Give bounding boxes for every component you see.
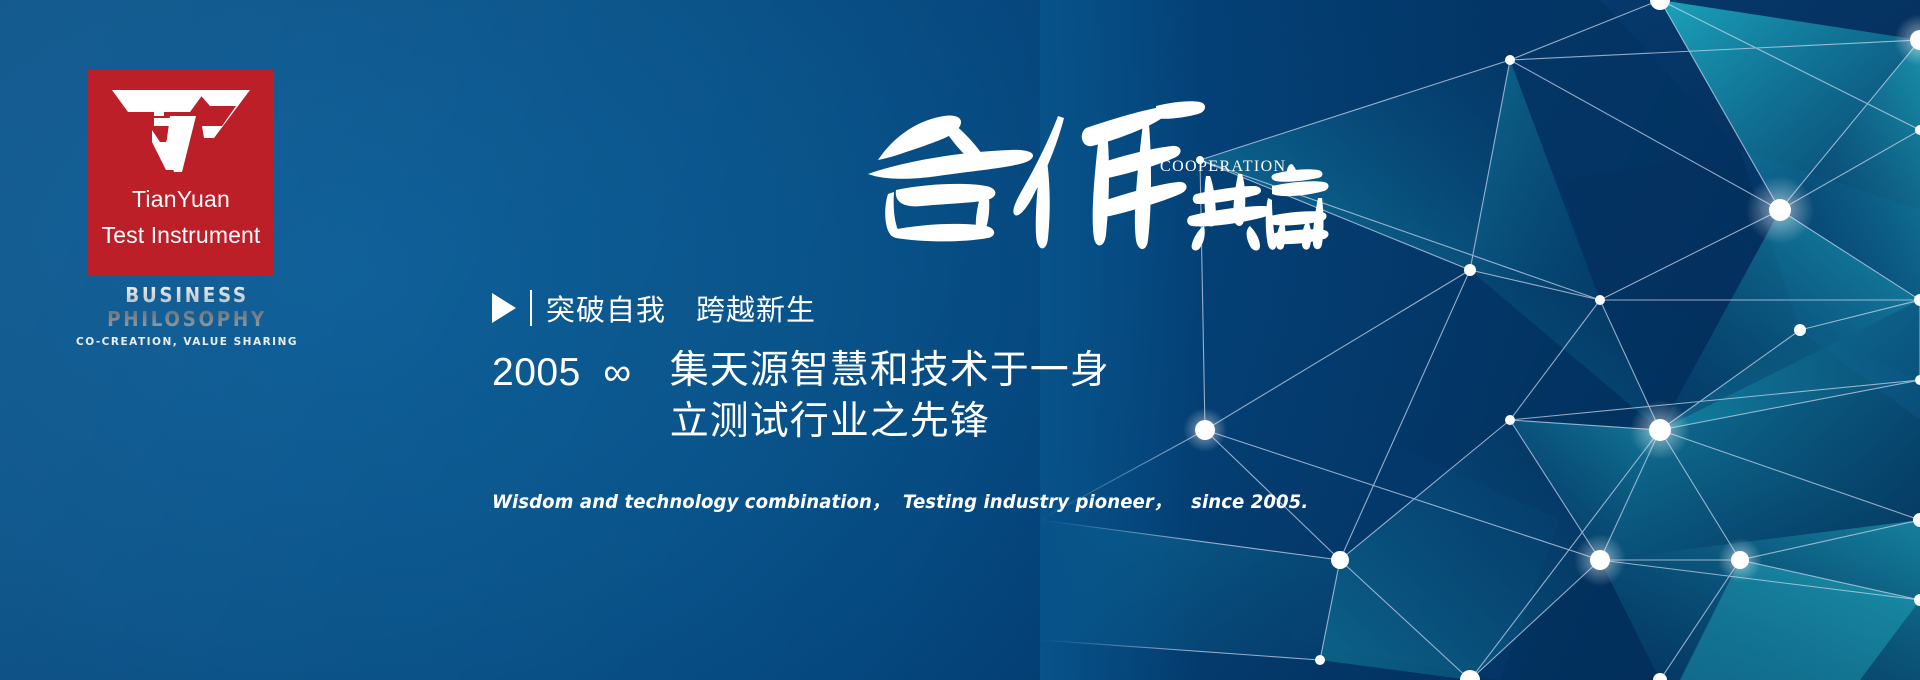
founding-year: 2005 ∞: [492, 346, 632, 398]
slogan-line-2: 立测试行业之先锋: [670, 397, 1110, 448]
company-logo-block: TianYuan Test Instrument: [88, 70, 274, 275]
promo-banner: TianYuan Test Instrument BUSINESS PHILOS…: [0, 0, 1920, 680]
tagline-row: 突破自我 跨越新生: [492, 288, 1252, 328]
vertical-rule-divider: [530, 290, 532, 326]
logo-card: TianYuan Test Instrument: [88, 70, 274, 275]
business-philosophy-block: BUSINESS PHILOSOPHY CO-CREATION, VALUE S…: [56, 283, 318, 348]
philosophy-heading: BUSINESS PHILOSOPHY: [53, 283, 320, 331]
logo-company-name: TianYuan: [132, 186, 230, 213]
english-tagline: Wisdom and technology combination， Testi…: [492, 487, 1214, 514]
philosophy-subheading: CO-CREATION, VALUE SHARING: [56, 336, 318, 348]
cooperation-label: COOPERATION: [1160, 158, 1287, 176]
play-triangle-icon: [492, 293, 516, 323]
calligraphy-hezuo-gongying: [860, 88, 1330, 268]
logo-company-subtitle: Test Instrument: [102, 222, 261, 249]
headline-copy-block: 突破自我 跨越新生 2005 ∞ 集天源智慧和技术于一身 立测试行业之先锋 Wi…: [492, 288, 1252, 514]
slogan-block: 2005 ∞ 集天源智慧和技术于一身 立测试行业之先锋: [492, 346, 1252, 447]
slogan-lines: 集天源智慧和技术于一身 立测试行业之先锋: [670, 346, 1110, 447]
ty-monogram-icon: [110, 86, 252, 172]
tagline-text: 突破自我 跨越新生: [546, 287, 816, 329]
slogan-line-1: 集天源智慧和技术于一身: [670, 346, 1110, 397]
